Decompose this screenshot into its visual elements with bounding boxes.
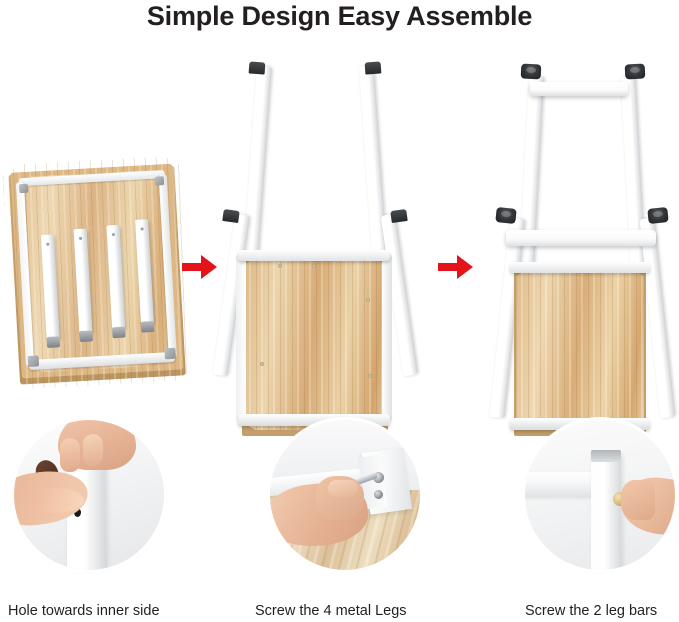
attached-leg	[243, 66, 272, 267]
screw-point	[368, 374, 372, 378]
screw-head	[374, 490, 383, 499]
leg-bar-upper	[530, 82, 628, 96]
leg-hole	[112, 233, 115, 236]
leg-bar	[525, 472, 599, 496]
board-surface	[516, 270, 644, 430]
leg-foot-cap	[495, 207, 516, 224]
assembly-step-2-image	[216, 62, 416, 388]
caption-hole-towards-inner-side: Hole towards inner side	[8, 602, 160, 620]
assembly-step-3-image	[486, 62, 676, 388]
assembly-step-1-image	[8, 160, 188, 385]
leg-foot-cap	[521, 63, 542, 79]
knuckles	[328, 480, 358, 497]
finger	[83, 434, 103, 466]
leg-bar-lower	[506, 230, 656, 246]
frame-corner-bracket	[19, 184, 28, 193]
fingers	[621, 480, 655, 520]
metal-leg-opening	[591, 450, 621, 462]
leg-hole	[79, 237, 82, 240]
wood-grain	[516, 270, 644, 430]
wood-grain	[244, 258, 386, 430]
arrow-step1-to-step2	[182, 252, 218, 287]
frame-corner-bracket	[155, 176, 164, 185]
screw-point	[278, 264, 282, 268]
leg-end-cap	[365, 61, 382, 74]
frame-corner-bracket	[28, 355, 40, 367]
detail-photo-screw-the-2-leg-bars	[525, 420, 675, 570]
screw-point	[260, 362, 264, 366]
frame-rail-top	[238, 250, 390, 261]
screw-point	[366, 298, 370, 302]
page-title: Simple Design Easy Assemble	[0, 0, 679, 32]
board-surface	[244, 258, 386, 430]
screw-point	[312, 264, 316, 268]
leg-hole	[46, 243, 49, 246]
frame-rail-top	[510, 262, 650, 273]
leg-end-cap	[390, 209, 408, 223]
leg-end-cap	[249, 61, 266, 74]
leg-end-cap	[222, 209, 240, 223]
caption-screw-the-2-leg-bars: Screw the 2 leg bars	[525, 602, 657, 620]
frame-rail-left	[236, 254, 246, 422]
frame-rail-right	[382, 254, 392, 422]
detail-photo-screw-the-4-metal-legs	[270, 420, 420, 570]
detail-photo-hole-towards-inner-side	[14, 420, 164, 570]
arrow-step2-to-step3	[438, 252, 474, 287]
frame-corner-bracket	[164, 348, 176, 360]
finger	[60, 438, 80, 472]
leg-foot-cap	[625, 63, 646, 79]
bench-board-flat	[2, 155, 194, 390]
metal-leg	[591, 454, 621, 570]
caption-screw-the-4-metal-legs: Screw the 4 metal Legs	[255, 602, 407, 620]
leg-hole	[141, 227, 144, 230]
leg-foot-cap	[647, 207, 668, 224]
